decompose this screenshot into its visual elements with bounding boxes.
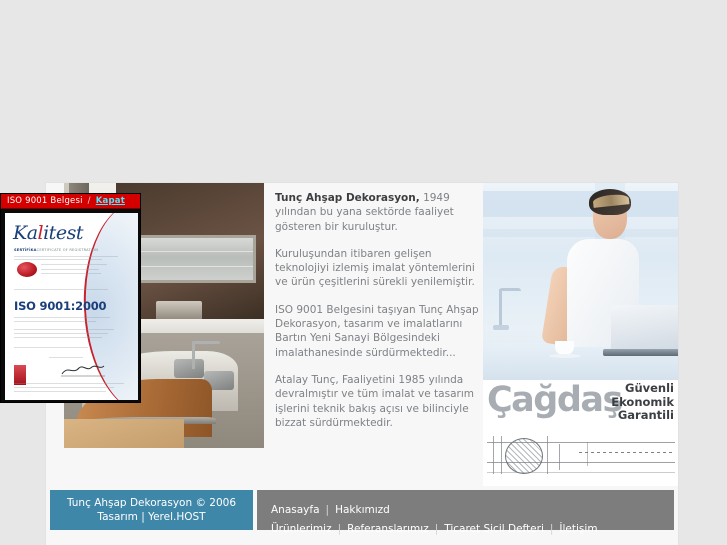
kalitest-logo: Kalitest — [13, 222, 83, 244]
certificate-footer-line — [14, 391, 106, 392]
nav-separator: | — [338, 523, 342, 535]
nav-link-hakkimizda[interactable]: Hakkımızd — [335, 504, 390, 516]
nav-link-urunlerimiz[interactable]: Ürünlerimiz — [271, 523, 332, 535]
certificate-subtitle-tr: SERTİFİKA — [14, 248, 37, 252]
faucet-base — [493, 325, 509, 330]
blueprint-line — [559, 444, 560, 470]
certificate-standard-label: ISO 9001:2000 — [14, 299, 106, 313]
article-paragraph-4: Atalay Tunç, Faaliyetini 1985 yılında de… — [275, 373, 481, 430]
footer-navigation: Anasayfa|Hakkımızd Ürünlerimiz|Referansl… — [257, 490, 674, 530]
blueprint-line — [547, 436, 548, 474]
certificate-text-line — [14, 259, 102, 260]
footer-copyright-box: Tunç Ahşap Dekorasyon © 2006 Tasarım | Y… — [50, 490, 253, 530]
faucet — [499, 289, 502, 327]
slogan-main: Çağdaş — [487, 378, 622, 422]
certificate-image: Kalitest SERTİFİKACERTIFICATE OF REGISTR… — [5, 213, 138, 400]
right-image-column: Çağdaş Güvenli Ekonomik Garantili — [483, 183, 678, 486]
certificate-text-line — [14, 337, 102, 338]
blueprint-dashed-line — [579, 452, 675, 453]
certificate-popup-titlebar: ISO 9001 Belgesi / Kapat — [1, 194, 140, 209]
certificate-footer-line — [14, 383, 124, 384]
blueprint-line — [493, 436, 494, 474]
kitchen-faucet — [192, 343, 195, 369]
kitchen-glass-door — [130, 235, 256, 283]
company-name: Tunç Ahşap Dekorasyon, — [275, 192, 420, 204]
certificate-text-line — [49, 357, 83, 358]
blueprint-hatched-circle — [505, 438, 543, 474]
laptop-screen — [611, 305, 678, 353]
slogan-line-2: Ekonomik — [611, 396, 674, 410]
footer: Tunç Ahşap Dekorasyon © 2006 Tasarım | Y… — [46, 486, 678, 545]
certificate-seal-icon — [17, 262, 37, 277]
certificate-text-line — [14, 289, 108, 290]
certificate-text-line — [14, 256, 118, 257]
coffee-cup — [555, 341, 574, 355]
certificate-text-line — [41, 269, 99, 270]
nav-link-anasayfa[interactable]: Anasayfa — [271, 504, 320, 516]
certificate-text-line — [14, 333, 108, 334]
certificate-text-line — [14, 317, 110, 318]
footer-navigation-row-2: Ürünlerimiz|Referanslarımız|Ticaret Sici… — [271, 520, 674, 539]
coffee-saucer — [549, 354, 581, 358]
certificate-accreditation-mark — [14, 365, 26, 385]
kitchen-faucet-arm — [192, 341, 220, 344]
window-pane — [483, 191, 678, 217]
certificate-text-line — [14, 321, 96, 322]
article-text-column: Tunç Ahşap Dekorasyon, 1949 yılından bu … — [275, 191, 481, 481]
close-certificate-link[interactable]: Kapat — [96, 196, 125, 206]
blueprint-drawing — [483, 432, 678, 486]
certificate-popup-title: ISO 9001 Belgesi — [7, 196, 83, 206]
nav-separator: | — [435, 523, 439, 535]
certificate-signature-icon — [61, 363, 105, 377]
certificate-title-separator: / — [88, 196, 91, 206]
woman-with-laptop-photo — [483, 183, 678, 391]
footer-copyright-line-1: Tunç Ahşap Dekorasyon © 2006 — [67, 496, 236, 511]
laptop-base — [603, 349, 678, 356]
slogan-strip: Çağdaş Güvenli Ekonomik Garantili — [483, 380, 678, 432]
glass-shelf-line — [133, 251, 253, 252]
window-pane — [483, 229, 678, 237]
slogan-line-1: Güvenli — [611, 382, 674, 396]
kitchen-countertop-items — [156, 301, 202, 321]
slogan-list: Güvenli Ekonomik Garantili — [611, 382, 674, 423]
article-paragraph-2: Kuruluşundan itibaren gelişen teknolojiy… — [275, 247, 481, 290]
nav-link-iletisim[interactable]: İletişim — [559, 523, 597, 535]
faucet-arm — [499, 288, 521, 291]
glass-shelf-line — [133, 266, 253, 267]
logo-text-part-3: itest — [43, 222, 83, 244]
footer-copyright-line-2: Tasarım | Yerel.HOST — [97, 510, 205, 525]
certificate-text-line — [41, 273, 101, 274]
certificate-text-line — [41, 264, 107, 265]
certificate-subtitle-en: CERTIFICATE OF REGISTRATION — [37, 248, 99, 252]
slogan-line-3: Garantili — [611, 409, 674, 423]
article-paragraph-3: ISO 9001 Belgesini taşıyan Tunç Ahşap De… — [275, 303, 481, 360]
certificate-footer-line — [14, 387, 114, 388]
blueprint-line — [501, 436, 502, 474]
iso-certificate-popup: ISO 9001 Belgesi / Kapat Kalitest SERTİF… — [0, 193, 141, 403]
blueprint-line — [587, 442, 588, 466]
logo-text-part-1: Ka — [13, 222, 38, 244]
kitchen-floor — [64, 419, 184, 448]
article-paragraph-1: Tunç Ahşap Dekorasyon, 1949 yılından bu … — [275, 191, 481, 234]
nav-separator: | — [326, 504, 330, 516]
nav-separator: | — [550, 523, 554, 535]
kitchen-sink-basin — [174, 359, 204, 378]
nav-link-ticaret-sicil-defteri[interactable]: Ticaret Sicil Defteri — [444, 523, 544, 535]
certificate-text-line — [14, 347, 88, 348]
nav-link-referanslarimiz[interactable]: Referanslarımız — [347, 523, 429, 535]
certificate-text-line — [14, 329, 114, 330]
certificate-subtitle: SERTİFİKACERTIFICATE OF REGISTRATION — [14, 248, 98, 252]
page-root: Tunç Ahşap Dekorasyon, 1949 yılından bu … — [0, 0, 727, 545]
